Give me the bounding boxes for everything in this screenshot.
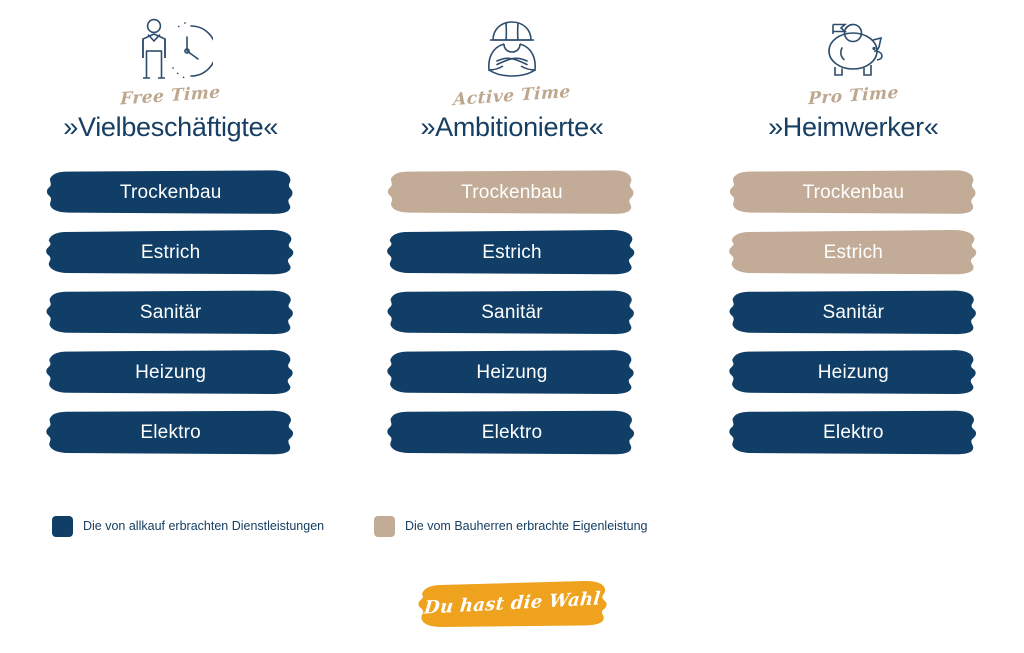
- piggy-bank-icon: [815, 16, 891, 82]
- column-script-label: Free Time: [120, 84, 221, 108]
- column-title: »Vielbeschäftigte«: [63, 113, 278, 143]
- column-script-label: Active Time: [453, 84, 571, 109]
- legend-swatch-tan: [374, 516, 395, 537]
- bar-label: Elektro: [823, 423, 884, 442]
- infographic-page: Free Time »Vielbeschäftigte« Trockenbau …: [0, 0, 1024, 653]
- bar-label: Elektro: [140, 423, 201, 442]
- column-heimwerker: Pro Time »Heimwerker« Trockenbau Estrich: [683, 0, 1024, 480]
- column-header: Active Time »Ambitionierte«: [341, 0, 682, 160]
- column-vielbeschaeftigte: Free Time »Vielbeschäftigte« Trockenbau …: [0, 0, 341, 480]
- du-hast-die-wahl-badge[interactable]: Du hast die Wahl: [414, 578, 610, 630]
- column-title: »Ambitionierte«: [420, 113, 603, 143]
- column-header: Free Time »Vielbeschäftigte«: [0, 0, 341, 160]
- bar-label: Trockenbau: [120, 183, 222, 202]
- worker-with-helmet-icon: [475, 16, 549, 82]
- legend-swatch-navy: [52, 516, 73, 537]
- legend: Die von allkauf erbrachten Dienstleistun…: [52, 516, 752, 537]
- bar-label: Sanitär: [823, 303, 885, 322]
- bar-trockenbau[interactable]: Trockenbau: [727, 168, 980, 216]
- bar-label: Heizung: [135, 363, 206, 382]
- bar-elektro[interactable]: Elektro: [385, 408, 638, 456]
- bar-label: Elektro: [482, 423, 543, 442]
- bar-label: Estrich: [824, 243, 883, 262]
- bar-elektro[interactable]: Elektro: [44, 408, 297, 456]
- bar-elektro[interactable]: Elektro: [727, 408, 980, 456]
- badge-container: Du hast die Wahl: [0, 578, 1024, 630]
- legend-label: Die vom Bauherren erbrachte Eigenleistun…: [405, 520, 648, 533]
- bar-label: Sanitär: [481, 303, 543, 322]
- bar-heizung[interactable]: Heizung: [385, 348, 638, 396]
- bar-label: Heizung: [818, 363, 889, 382]
- bar-label: Trockenbau: [461, 183, 563, 202]
- bar-heizung[interactable]: Heizung: [727, 348, 980, 396]
- bar-label: Estrich: [141, 243, 200, 262]
- bar-estrich[interactable]: Estrich: [727, 228, 980, 276]
- bar-label: Estrich: [482, 243, 541, 262]
- legend-item-bauherr: Die vom Bauherren erbrachte Eigenleistun…: [374, 516, 648, 537]
- bar-trockenbau[interactable]: Trockenbau: [385, 168, 638, 216]
- column-title: »Heimwerker«: [768, 113, 938, 143]
- column-header: Pro Time »Heimwerker«: [683, 0, 1024, 160]
- bar-label: Heizung: [476, 363, 547, 382]
- bar-estrich[interactable]: Estrich: [385, 228, 638, 276]
- legend-label: Die von allkauf erbrachten Dienstleistun…: [83, 520, 324, 533]
- bars-list: Trockenbau Estrich Sanitär: [0, 168, 341, 456]
- legend-item-allkauf: Die von allkauf erbrachten Dienstleistun…: [52, 516, 374, 537]
- bar-label: Trockenbau: [803, 183, 905, 202]
- bars-list: Trockenbau Estrich Sanitär: [683, 168, 1024, 456]
- bar-sanitaer[interactable]: Sanitär: [385, 288, 638, 336]
- bar-estrich[interactable]: Estrich: [44, 228, 297, 276]
- bar-sanitaer[interactable]: Sanitär: [727, 288, 980, 336]
- bar-trockenbau[interactable]: Trockenbau: [44, 168, 297, 216]
- comparison-columns: Free Time »Vielbeschäftigte« Trockenbau …: [0, 0, 1024, 480]
- bar-heizung[interactable]: Heizung: [44, 348, 297, 396]
- column-script-label: Pro Time: [808, 85, 899, 108]
- column-ambitionierte: Active Time »Ambitionierte« Trockenbau E…: [341, 0, 682, 480]
- bar-label: Sanitär: [140, 303, 202, 322]
- person-with-clock-icon: [129, 16, 213, 82]
- bar-sanitaer[interactable]: Sanitär: [44, 288, 297, 336]
- bars-list: Trockenbau Estrich Sanitär: [341, 168, 682, 456]
